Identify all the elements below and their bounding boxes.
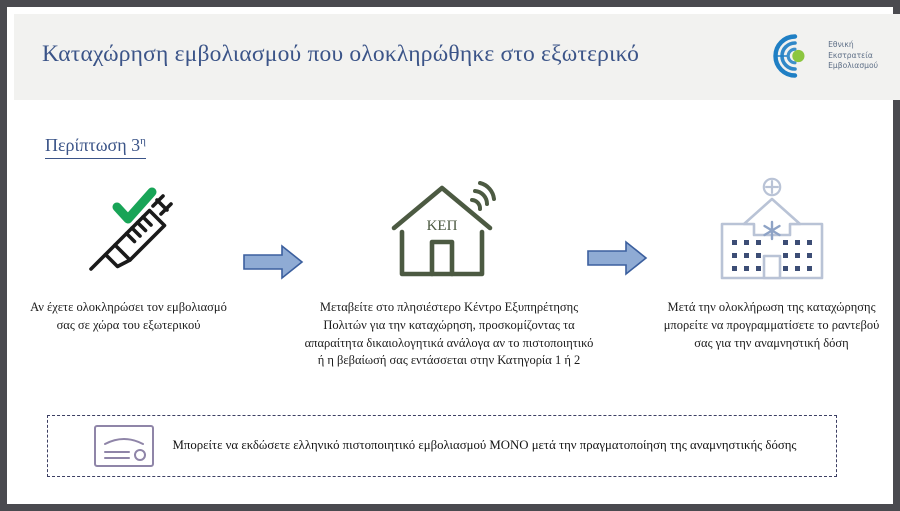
- page-title: Καταχώρηση εμβολιασμού που ολοκληρώθηκε …: [42, 41, 639, 68]
- flow-arrow-1: [242, 243, 304, 286]
- national-vaccination-campaign-logo-icon: [773, 32, 821, 80]
- flow-step-1-text: Αν έχετε ολοκληρώσει τον εμβολιασμό σας …: [26, 299, 231, 335]
- slide-canvas: Καταχώρηση εμβολιασμού που ολοκληρώθηκε …: [0, 0, 900, 511]
- logo-text: Εθνική Εκστρατεία Εμβολιασμού: [828, 40, 878, 72]
- logo: Εθνική Εκστρατεία Εμβολιασμού: [773, 32, 878, 80]
- logo-line-2: Εκστρατεία: [828, 51, 873, 60]
- flow-diagram: Αν έχετε ολοκληρώσει τον εμβολιασμό σας …: [14, 177, 900, 392]
- case-heading-ordinal: η: [140, 135, 146, 147]
- syringe-check-icon: [26, 177, 231, 287]
- note-text: Μπορείτε να εκδώσετε ελληνικό πιστοποιητ…: [171, 437, 836, 455]
- certificate-card-icon: [93, 424, 155, 468]
- flow-arrow-2: [586, 239, 648, 282]
- flow-step-1: Αν έχετε ολοκληρώσει τον εμβολιασμό σας …: [26, 177, 231, 335]
- slide-header: Καταχώρηση εμβολιασμού που ολοκληρώθηκε …: [14, 14, 900, 100]
- flow-step-3-text: Μετά την ολοκλήρωση της καταχώρησης μπορ…: [654, 299, 889, 352]
- flow-step-2: ΚΕΠ Μεταβείτε στο πλησιέστερο Κέντρο Εξυ…: [304, 177, 594, 370]
- flow-step-2-text: Μεταβείτε στο πλησιέστερο Κέντρο Εξυπηρέ…: [304, 299, 594, 370]
- logo-line-1: Εθνική: [828, 40, 854, 49]
- kep-house-wifi-icon: ΚΕΠ: [304, 177, 594, 287]
- kep-icon-label: ΚΕΠ: [427, 218, 458, 234]
- case-heading: Περίπτωση 3η: [45, 135, 146, 159]
- flow-step-3: Μετά την ολοκλήρωση της καταχώρησης μπορ…: [654, 177, 889, 352]
- case-heading-label: Περίπτωση 3: [45, 135, 140, 155]
- note-box: Μπορείτε να εκδώσετε ελληνικό πιστοποιητ…: [47, 415, 837, 477]
- hospital-building-icon: [654, 177, 889, 287]
- logo-line-3: Εμβολιασμού: [828, 61, 878, 70]
